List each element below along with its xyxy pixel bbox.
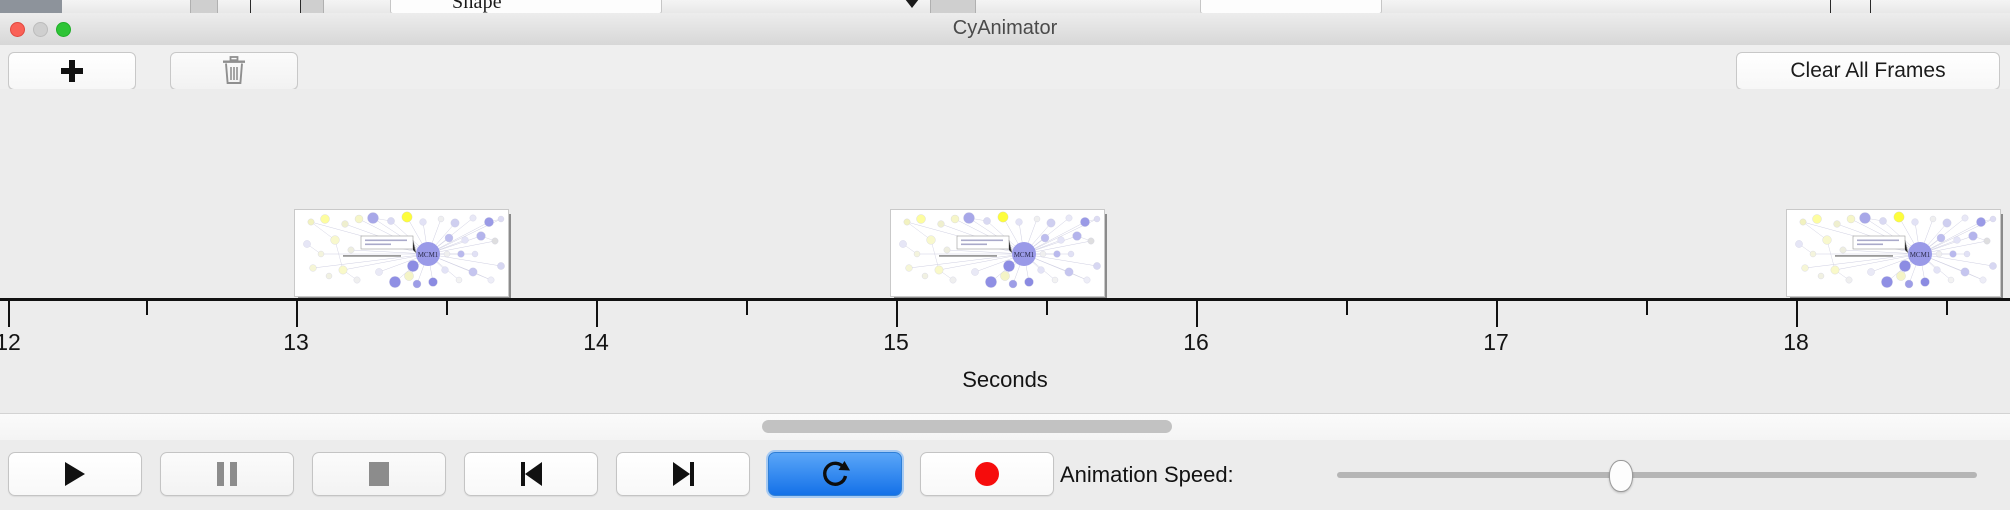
record-icon: [975, 462, 999, 486]
background-tab-2: [1200, 0, 1382, 14]
background-toolbar-dark: [0, 0, 62, 13]
delete-frame-button[interactable]: [170, 52, 298, 90]
loop-button[interactable]: [768, 452, 902, 496]
skip-to-start-button[interactable]: [464, 452, 598, 496]
timeline-tick-minor: [1946, 301, 1948, 315]
title-bar: CyAnimator: [0, 13, 2010, 46]
network-preview: MCM1: [890, 209, 1105, 297]
svg-text:MCM1: MCM1: [1910, 251, 1931, 259]
network-preview: MCM1: [1786, 209, 2001, 297]
timeline-tick-minor: [1346, 301, 1348, 315]
play-icon: [65, 462, 85, 486]
background-caret-icon: [905, 0, 919, 8]
skip-next-icon: [673, 462, 694, 486]
animation-speed-label: Animation Speed:: [1060, 462, 1234, 488]
background-window-strip: Shape: [0, 0, 2010, 14]
cyanimator-window: Shape CyAnimator Clear All Frames: [0, 0, 2010, 510]
timeline-frame-thumbnail[interactable]: MCM1: [294, 209, 509, 297]
timeline-tick-label: 14: [583, 329, 609, 356]
background-window-label: Shape: [452, 0, 502, 14]
timeline-frame-thumbnail[interactable]: MCM1: [1786, 209, 2001, 297]
background-chip-2: [300, 0, 324, 13]
stop-button[interactable]: [312, 452, 446, 496]
timeline-tick-major: [1496, 301, 1498, 327]
window-title: CyAnimator: [0, 13, 2010, 44]
svg-text:MCM1: MCM1: [418, 251, 439, 259]
stop-icon: [369, 462, 389, 486]
loop-icon: [820, 459, 850, 489]
play-button[interactable]: [8, 452, 142, 496]
timeline-tick-major: [1196, 301, 1198, 327]
minimize-button[interactable]: [33, 22, 48, 37]
transport-bar: Animation Speed:: [0, 440, 2010, 510]
background-chip-3: [930, 0, 976, 13]
timeline-tick-major: [8, 301, 10, 327]
timeline-tick-minor: [146, 301, 148, 315]
axis-title: Seconds: [0, 367, 2010, 393]
animation-speed-slider-thumb[interactable]: [1609, 460, 1633, 492]
record-button[interactable]: [920, 452, 1054, 496]
timeline-panel[interactable]: MCM1MCM1MCM1 12131415161718 Seconds: [0, 89, 2010, 413]
zoom-button[interactable]: [56, 22, 71, 37]
skip-previous-icon: [521, 462, 542, 486]
timeline-tick-label: 15: [883, 329, 909, 356]
background-chip-1: [190, 0, 218, 13]
animation-speed-slider[interactable]: [1337, 472, 1977, 478]
timeline-tick-minor: [1046, 301, 1048, 315]
timeline-axis-line: [0, 298, 2010, 301]
plus-icon: [61, 60, 83, 82]
timeline-tick-major: [596, 301, 598, 327]
timeline-tick-minor: [746, 301, 748, 315]
svg-text:MCM1: MCM1: [1014, 251, 1035, 259]
timeline-tick-label: 17: [1483, 329, 1509, 356]
background-tick-1: [250, 0, 251, 13]
skip-to-end-button[interactable]: [616, 452, 750, 496]
timeline-tick-label: 18: [1783, 329, 1809, 356]
timeline-tick-label: 13: [283, 329, 309, 356]
pause-button[interactable]: [160, 452, 294, 496]
timeline-tick-label: 12: [0, 329, 21, 356]
background-tick-2: [300, 0, 301, 13]
timeline-scrollbar-thumb[interactable]: [762, 420, 1172, 433]
network-preview: MCM1: [294, 209, 509, 297]
add-frame-button[interactable]: [8, 52, 136, 90]
trash-icon: [221, 56, 247, 86]
timeline-tick-major: [1796, 301, 1798, 327]
background-tab-1: [390, 0, 662, 14]
timeline-tick-minor: [446, 301, 448, 315]
timeline-tick-minor: [1646, 301, 1648, 315]
clear-all-frames-button[interactable]: Clear All Frames: [1736, 52, 2000, 90]
timeline-tick-major: [896, 301, 898, 327]
timeline-frame-thumbnail[interactable]: MCM1: [890, 209, 1105, 297]
pause-icon: [217, 462, 237, 486]
close-button[interactable]: [10, 22, 25, 37]
timeline-tick-major: [296, 301, 298, 327]
background-tick-3: [1830, 0, 1831, 13]
background-tick-4: [1870, 0, 1871, 13]
timeline-tick-label: 16: [1183, 329, 1209, 356]
window-traffic-lights: [10, 22, 71, 37]
timeline-scrollbar[interactable]: [0, 413, 2010, 441]
frame-toolbar: Clear All Frames: [0, 45, 2010, 90]
